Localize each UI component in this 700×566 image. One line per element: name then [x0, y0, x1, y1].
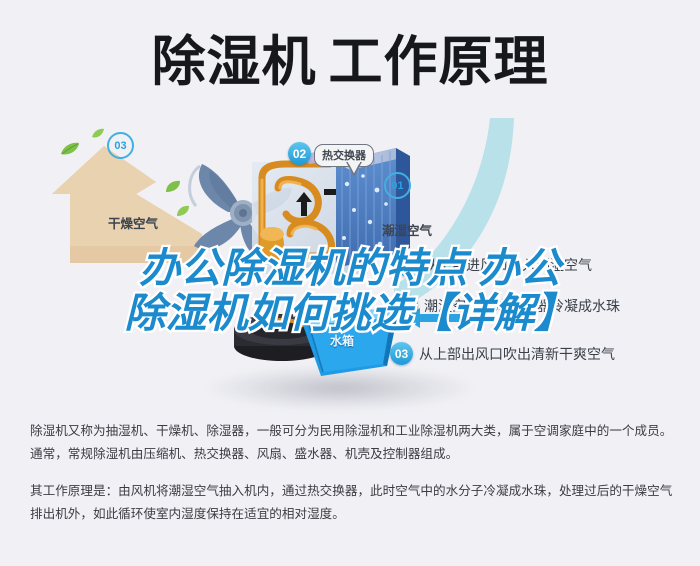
badge-03-dry-air: 03: [107, 132, 134, 159]
badge-step-02: 02: [395, 294, 418, 317]
badge-02-heat-exchanger: 02: [288, 142, 311, 165]
leaf-icon: [165, 180, 181, 193]
callout-heat-exchanger: 热交换器: [314, 144, 374, 167]
step-text-02: 潮湿空气经热交换器冷凝成水珠: [424, 296, 620, 316]
water-tank-label: 水箱: [330, 332, 354, 349]
leaf-icon: [60, 142, 80, 156]
label-humid-air: 潮湿空气: [382, 220, 432, 239]
page-title: 除湿机工作原理: [0, 32, 700, 92]
badge-step-01: 01: [395, 253, 418, 276]
article-body: 除湿机又称为抽湿机、干燥机、除湿器，一般可分为民用除湿机和工业除湿机两大类，属于…: [30, 420, 674, 526]
step-text-03: 从上部出风口吹出清新干爽空气: [419, 344, 615, 364]
badge-01-humid-air: 01: [384, 172, 411, 199]
step-text-01: 从下部进风口吸入潮湿空气: [424, 255, 592, 275]
step-line-01: 01 从下部进风口吸入潮湿空气: [395, 253, 592, 276]
diagram-illustration: 水箱 03 干燥空气 02 热交换器 01 潮湿空气 01 从下部进风口吸入潮湿…: [0, 110, 700, 410]
step-line-03: 03 从上部出风口吹出清新干爽空气: [390, 342, 615, 365]
body-paragraph-1: 除湿机又称为抽湿机、干燥机、除湿器，一般可分为民用除湿机和工业除湿机两大类，属于…: [30, 420, 674, 466]
step-line-02: 02 潮湿空气经热交换器冷凝成水珠: [395, 294, 620, 317]
poster-canvas: 除湿机工作原理: [0, 0, 700, 566]
title-part-principle: 工作原理: [329, 32, 549, 92]
label-dry-air: 干燥空气: [108, 213, 158, 232]
title-part-dehumidifier: 除湿机: [152, 32, 317, 92]
badge-step-03: 03: [390, 342, 413, 365]
leaf-icon: [91, 128, 105, 139]
callout-tail-icon: [346, 162, 362, 176]
body-paragraph-2: 其工作原理是：由风机将潮湿空气抽入机内，通过热交换器，此时空气中的水分子冷凝成水…: [30, 480, 674, 526]
